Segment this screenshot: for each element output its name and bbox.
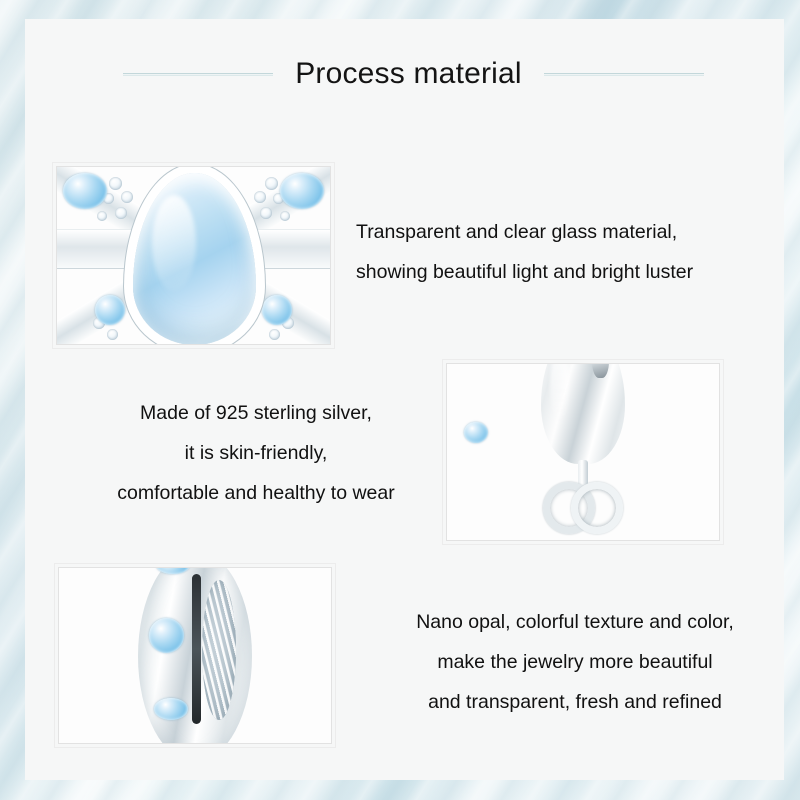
pave-stone bbox=[260, 207, 272, 219]
product-photo-charm-ring bbox=[446, 363, 720, 541]
title-rule-right bbox=[544, 73, 704, 76]
charm-body bbox=[541, 363, 625, 464]
opal-stone-top-right bbox=[280, 173, 324, 209]
opal-stone-top bbox=[156, 567, 190, 574]
pave-stone bbox=[97, 211, 107, 221]
caption-line: Nano opal, colorful texture and color, bbox=[355, 602, 795, 642]
pave-stone bbox=[280, 211, 290, 221]
caption-line: Made of 925 sterling silver, bbox=[71, 393, 441, 433]
opal-stone-bottom-right bbox=[262, 295, 292, 325]
pear-glass-stone bbox=[133, 173, 256, 345]
caption-glass-material: Transparent and clear glass material, sh… bbox=[356, 212, 693, 292]
caption-line: Transparent and clear glass material, bbox=[356, 212, 693, 252]
product-photo-pear-cabochon bbox=[56, 166, 331, 345]
pave-stone bbox=[254, 191, 266, 203]
page-title: Process material bbox=[295, 57, 522, 91]
bead-channel-shadow bbox=[192, 574, 201, 724]
pave-stone bbox=[109, 177, 122, 190]
caption-line: make the jewelry more beautiful bbox=[355, 642, 795, 682]
opal-stone-top-left bbox=[63, 173, 107, 209]
opal-stone-middle bbox=[149, 618, 184, 653]
pave-stone bbox=[121, 191, 133, 203]
pave-stone bbox=[269, 329, 280, 340]
charm-cutout-shadow bbox=[592, 363, 609, 378]
pave-stone bbox=[107, 329, 118, 340]
page-title-row: Process material bbox=[25, 57, 784, 91]
jump-ring-right bbox=[571, 482, 623, 534]
promo-page: Process material bbox=[0, 0, 800, 800]
opal-stone-charm bbox=[464, 422, 488, 443]
pave-stone bbox=[115, 207, 127, 219]
product-photo-spacer-bead bbox=[58, 567, 332, 744]
caption-line: comfortable and healthy to wear bbox=[71, 473, 441, 513]
caption-line: it is skin-friendly, bbox=[71, 433, 441, 473]
caption-line: showing beautiful light and bright luste… bbox=[356, 252, 693, 292]
title-rule-left bbox=[123, 73, 273, 76]
spacer-bead-body bbox=[138, 567, 252, 744]
photo-stage bbox=[59, 568, 331, 743]
opal-stone-bottom-left bbox=[95, 295, 125, 325]
caption-nano-opal: Nano opal, colorful texture and color, m… bbox=[355, 602, 795, 722]
pave-stone bbox=[265, 177, 278, 190]
photo-stage bbox=[57, 167, 330, 344]
opal-stone-bottom bbox=[154, 698, 188, 720]
bead-inner-core bbox=[202, 580, 236, 720]
content-panel: Process material bbox=[25, 19, 784, 780]
caption-line: and transparent, fresh and refined bbox=[355, 682, 795, 722]
caption-sterling-silver: Made of 925 sterling silver, it is skin-… bbox=[71, 393, 441, 513]
photo-stage bbox=[447, 364, 719, 540]
